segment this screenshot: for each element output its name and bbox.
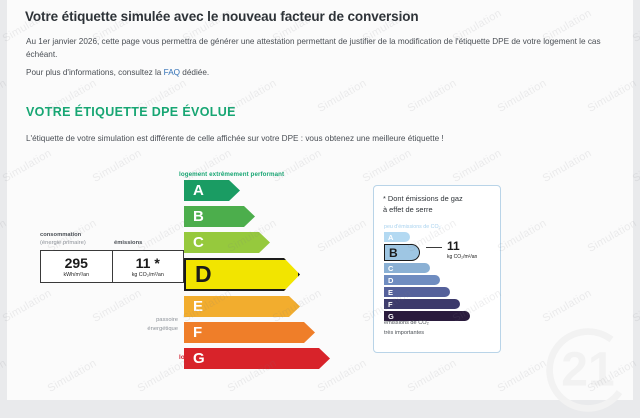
energy-class-bar-g: G bbox=[184, 348, 330, 369]
ges-class-letter: C bbox=[388, 264, 393, 273]
ges-class-letter: B bbox=[389, 246, 398, 260]
ges-title-line-2: à effet de serre bbox=[383, 205, 433, 214]
ges-class-bar-e: E bbox=[384, 287, 450, 297]
faq-paragraph-suffix: dédiée. bbox=[180, 68, 209, 77]
ges-bottom-line-2: très importantes bbox=[384, 330, 424, 336]
ges-class-bar-b: B bbox=[384, 244, 420, 261]
consumption-value: 295 bbox=[65, 256, 88, 270]
intro-paragraph: Au 1er janvier 2026, cette page vous per… bbox=[26, 36, 620, 61]
energy-class-letter: G bbox=[193, 350, 205, 367]
consumption-header: consommation bbox=[40, 232, 81, 238]
ges-class-bar-c: C bbox=[384, 263, 430, 273]
ges-value-unit: kg CO₂/m²/an bbox=[447, 254, 477, 260]
page-title: Votre étiquette simulée avec le nouveau … bbox=[25, 9, 419, 24]
ges-leader-line bbox=[426, 247, 442, 248]
ges-title: * Dont émissions de gaz à effet de serre bbox=[383, 194, 463, 215]
consumption-unit: kWh/m²/an bbox=[63, 272, 89, 278]
energy-class-letter: A bbox=[193, 182, 204, 199]
consumption-value-cell: 295 kWh/m²/an bbox=[41, 251, 112, 282]
energy-class-bar-a: A bbox=[184, 180, 240, 201]
ges-class-letter: A bbox=[388, 233, 393, 242]
passoire-line-1: passoire bbox=[156, 317, 178, 323]
section-paragraph: L'étiquette de votre simulation est diff… bbox=[26, 134, 444, 143]
ges-top-label: peu d'émissions de CO₂ bbox=[384, 224, 441, 230]
energy-class-bar-d: D bbox=[184, 258, 300, 291]
dpe-energy-label: logement extrêmement performant logement… bbox=[7, 168, 633, 373]
ges-class-letter: F bbox=[388, 300, 393, 309]
consumption-subheader: (énergie primaire) bbox=[40, 240, 86, 246]
ges-class-letter: E bbox=[388, 288, 393, 297]
faq-paragraph-prefix: Pour plus d'informations, consultez la bbox=[26, 68, 164, 77]
ges-title-line-1: * Dont émissions de gaz bbox=[383, 194, 463, 203]
ges-value: 11 bbox=[447, 239, 460, 253]
emissions-value: 11 * bbox=[136, 256, 160, 270]
ges-bottom-line-1: émissions de CO₂ bbox=[384, 320, 429, 326]
faq-link[interactable]: FAQ bbox=[164, 68, 180, 77]
faq-paragraph: Pour plus d'informations, consultez la F… bbox=[26, 67, 526, 80]
energy-class-bar-b: B bbox=[184, 206, 255, 227]
energy-class-bar-c: C bbox=[184, 232, 270, 253]
energy-class-letter: C bbox=[193, 234, 204, 251]
ges-class-bar-f: F bbox=[384, 299, 460, 309]
emissions-value-cell: 11 * kg CO₂/m²/an bbox=[112, 251, 184, 282]
content-card: Votre étiquette simulée avec le nouveau … bbox=[7, 0, 633, 400]
emissions-header: émissions bbox=[114, 240, 142, 246]
value-box: 295 kWh/m²/an 11 * kg CO₂/m²/an bbox=[40, 250, 184, 283]
energy-class-letter: D bbox=[195, 261, 212, 288]
section-title: VOTRE ÉTIQUETTE DPE ÉVOLUE bbox=[26, 105, 236, 119]
energy-class-letter: B bbox=[193, 208, 204, 225]
energy-class-bar-e: E bbox=[184, 296, 300, 317]
energy-class-letter: F bbox=[193, 324, 202, 341]
ges-class-letter: D bbox=[388, 276, 393, 285]
passoire-line-2: énergétique bbox=[147, 326, 178, 332]
scale-top-label: logement extrêmement performant bbox=[179, 171, 284, 178]
passoire-energetique-label: passoire énergétique bbox=[120, 316, 178, 333]
ges-panel: * Dont émissions de gaz à effet de serre… bbox=[373, 185, 501, 353]
energy-class-letter: E bbox=[193, 298, 203, 315]
ges-class-bar-d: D bbox=[384, 275, 440, 285]
ges-bottom-label: émissions de CO₂ très importantes bbox=[384, 319, 429, 338]
energy-class-bar-f: F bbox=[184, 322, 315, 343]
emissions-unit: kg CO₂/m²/an bbox=[132, 272, 164, 278]
ges-class-bar-a: A bbox=[384, 232, 410, 242]
